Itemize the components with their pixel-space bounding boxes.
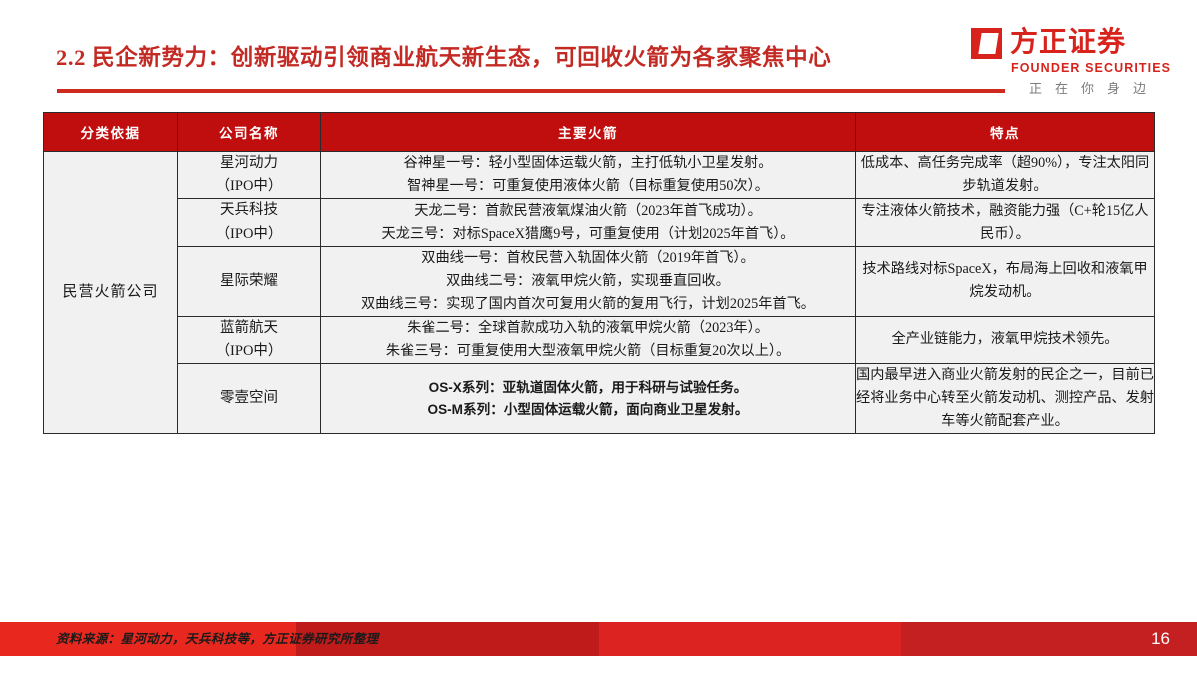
rocket-item: 双曲线三号：实现了国内首次可复用火箭的复用飞行，计划2025年首飞。: [321, 293, 855, 316]
brand-logo: 方正证券 FOUNDER SECURITIES 正在你身边: [971, 26, 1183, 92]
rocket-item: 朱雀三号：可重复使用大型液氧甲烷火箭（目标重复20次以上）。: [321, 340, 855, 363]
feature-cell: 技术路线对标SpaceX，布局海上回收和液氧甲烷发动机。: [856, 246, 1155, 316]
page-number: 16: [1151, 622, 1170, 656]
rocket-item: OS-M系列：小型固体运载火箭，面向商业卫星发射。: [321, 399, 855, 421]
rocket-item: 天龙三号：对标SpaceX猎鹰9号，可重复使用（计划2025年首飞）。: [321, 223, 855, 246]
company-name: 星河动力: [178, 152, 320, 175]
feature-cell: 专注液体火箭技术，融资能力强（C+轮15亿人民币）。: [856, 199, 1155, 246]
page-title: 2.2 民企新势力：创新驱动引领商业航天新生态，可回收火箭为各家聚焦中心: [56, 40, 831, 72]
rocket-item: 天龙二号：首款民营液氧煤油火箭（2023年首飞成功）。: [321, 200, 855, 223]
table-header-row: 分类依据 公司名称 主要火箭 特点: [44, 113, 1155, 152]
logo-tagline: 正在你身边: [1029, 78, 1159, 97]
column-header-company: 公司名称: [178, 113, 321, 152]
category-cell: 民营火箭公司: [44, 152, 178, 434]
rocket-companies-table-wrap: 分类依据 公司名称 主要火箭 特点 民营火箭公司 星河动力 （IPO中） 谷神星…: [43, 112, 1154, 434]
column-header-category: 分类依据: [44, 113, 178, 152]
rocket-item: 双曲线一号：首枚民营入轨固体火箭（2019年首飞）。: [321, 247, 855, 270]
table-row: 蓝箭航天 （IPO中） 朱雀二号：全球首款成功入轨的液氧甲烷火箭（2023年）。…: [44, 316, 1155, 363]
rockets-cell: 双曲线一号：首枚民营入轨固体火箭（2019年首飞）。 双曲线二号：液氧甲烷火箭，…: [321, 246, 856, 316]
rocket-companies-table: 分类依据 公司名称 主要火箭 特点 民营火箭公司 星河动力 （IPO中） 谷神星…: [43, 112, 1155, 434]
company-cell: 星河动力 （IPO中）: [178, 152, 321, 199]
company-cell: 天兵科技 （IPO中）: [178, 199, 321, 246]
rocket-item: 谷神星一号：轻小型固体运载火箭，主打低轨小卫星发射。: [321, 152, 855, 175]
rockets-cell: OS-X系列：亚轨道固体火箭，用于科研与试验任务。 OS-M系列：小型固体运载火…: [321, 364, 856, 434]
feature-cell: 国内最早进入商业火箭发射的民企之一，目前已经将业务中心转至火箭发动机、测控产品、…: [856, 364, 1155, 434]
company-name: 天兵科技: [178, 199, 320, 222]
footer-bar: 资料来源：星河动力，天兵科技等，方正证券研究所整理 16: [0, 622, 1197, 656]
rocket-item: 智神星一号：可重复使用液体火箭（目标重复使用50次）。: [321, 175, 855, 198]
company-status: （IPO中）: [178, 175, 320, 198]
rocket-item: 双曲线二号：液氧甲烷火箭，实现垂直回收。: [321, 270, 855, 293]
table-row: 星际荣耀 双曲线一号：首枚民营入轨固体火箭（2019年首飞）。 双曲线二号：液氧…: [44, 246, 1155, 316]
source-note: 资料来源：星河动力，天兵科技等，方正证券研究所整理: [56, 622, 379, 656]
table-row: 天兵科技 （IPO中） 天龙二号：首款民营液氧煤油火箭（2023年首飞成功）。 …: [44, 199, 1155, 246]
rocket-item: OS-X系列：亚轨道固体火箭，用于科研与试验任务。: [321, 377, 855, 399]
logo-primary-row: 方正证券: [971, 26, 1126, 60]
company-cell: 星际荣耀: [178, 246, 321, 316]
logo-name-cn: 方正证券: [1010, 29, 1126, 57]
table-row: 民营火箭公司 星河动力 （IPO中） 谷神星一号：轻小型固体运载火箭，主打低轨小…: [44, 152, 1155, 199]
footer-band-3: [599, 622, 901, 656]
title-divider: [57, 89, 1005, 93]
company-cell: 蓝箭航天 （IPO中）: [178, 316, 321, 363]
company-status: （IPO中）: [178, 223, 320, 246]
column-header-rockets: 主要火箭: [321, 113, 856, 152]
rockets-cell: 谷神星一号：轻小型固体运载火箭，主打低轨小卫星发射。 智神星一号：可重复使用液体…: [321, 152, 856, 199]
company-cell: 零壹空间: [178, 364, 321, 434]
table-head: 分类依据 公司名称 主要火箭 特点: [44, 113, 1155, 152]
company-name: 蓝箭航天: [178, 317, 320, 340]
company-name: 星际荣耀: [178, 270, 320, 293]
company-name: 零壹空间: [178, 387, 320, 410]
feature-cell: 低成本、高任务完成率（超90%），专注太阳同步轨道发射。: [856, 152, 1155, 199]
table-body: 民营火箭公司 星河动力 （IPO中） 谷神星一号：轻小型固体运载火箭，主打低轨小…: [44, 152, 1155, 434]
feature-cell: 全产业链能力，液氧甲烷技术领先。: [856, 316, 1155, 363]
column-header-features: 特点: [856, 113, 1155, 152]
rockets-cell: 天龙二号：首款民营液氧煤油火箭（2023年首飞成功）。 天龙三号：对标Space…: [321, 199, 856, 246]
company-status: （IPO中）: [178, 340, 320, 363]
logo-name-en: FOUNDER SECURITIES: [1011, 61, 1171, 75]
rocket-item: 朱雀二号：全球首款成功入轨的液氧甲烷火箭（2023年）。: [321, 317, 855, 340]
table-row: 零壹空间 OS-X系列：亚轨道固体火箭，用于科研与试验任务。 OS-M系列：小型…: [44, 364, 1155, 434]
rockets-cell: 朱雀二号：全球首款成功入轨的液氧甲烷火箭（2023年）。 朱雀三号：可重复使用大…: [321, 316, 856, 363]
founder-securities-mark-icon: [971, 28, 1002, 59]
